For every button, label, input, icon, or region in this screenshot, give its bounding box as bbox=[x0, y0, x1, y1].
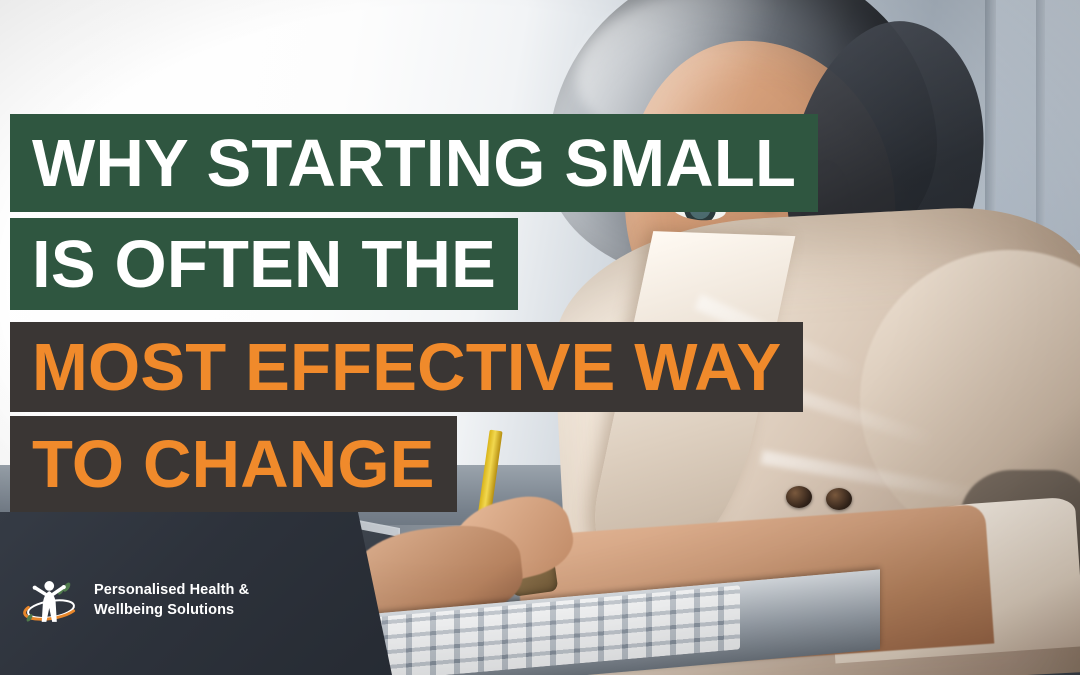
headline-line-3-text: MOST EFFECTIVE WAY bbox=[32, 334, 781, 401]
headline-line-1-text: WHY STARTING SMALL bbox=[32, 130, 796, 197]
headline-line-4: TO CHANGE bbox=[10, 416, 457, 512]
headline-line-3: MOST EFFECTIVE WAY bbox=[10, 322, 803, 412]
brand-logo[interactable]: Personalised Health & Wellbeing Solution… bbox=[22, 572, 249, 630]
headline-line-1: WHY STARTING SMALL bbox=[10, 114, 818, 212]
headline-line-2-text: IS OFTEN THE bbox=[32, 231, 496, 298]
headline-line-4-text: TO CHANGE bbox=[32, 431, 435, 498]
brand-logo-text: Personalised Health & Wellbeing Solution… bbox=[94, 581, 249, 620]
promo-banner: WHY STARTING SMALL IS OFTEN THE MOST EFF… bbox=[0, 0, 1080, 675]
brand-logo-line-2: Wellbeing Solutions bbox=[94, 601, 249, 621]
person-in-ring-logo-icon bbox=[22, 572, 80, 630]
brand-logo-line-1: Personalised Health & bbox=[94, 581, 249, 601]
headline-line-2: IS OFTEN THE bbox=[10, 218, 518, 310]
